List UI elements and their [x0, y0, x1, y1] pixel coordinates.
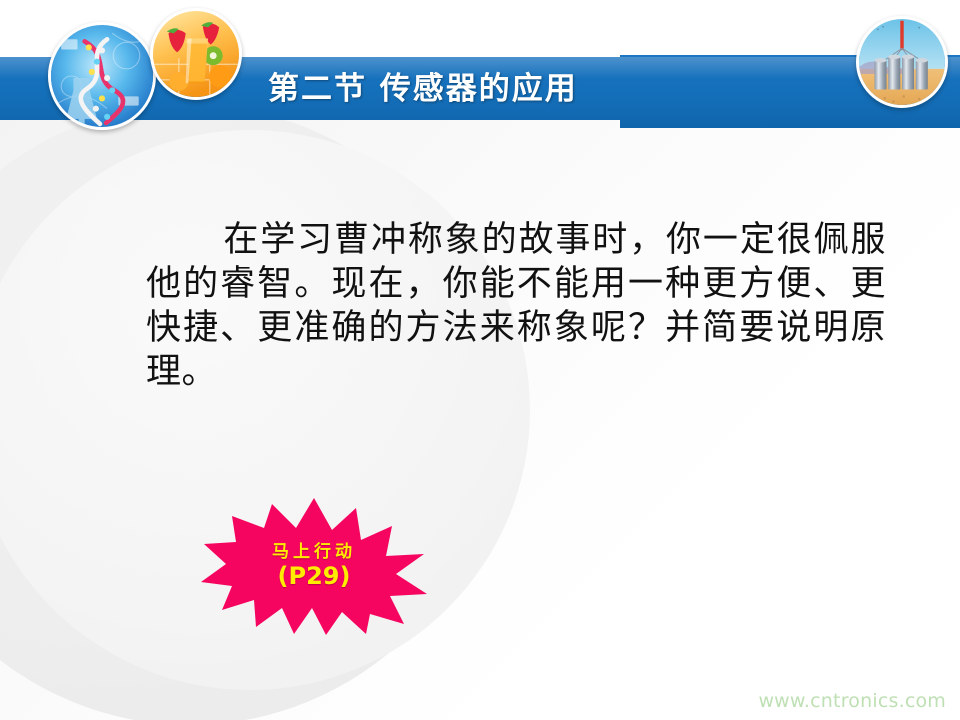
dna-icon: [51, 25, 153, 127]
callout-label: 马上行动: [198, 537, 430, 562]
callout-page-reference: (P29): [198, 562, 430, 590]
silo-photo-badge: [856, 16, 948, 108]
juice-icon: [153, 11, 239, 97]
page-title: 第二节 传感器的应用: [268, 64, 828, 114]
body-paragraph: 在学习曹冲称象的故事时，你一定很佩服他的睿智。现在，你能不能用一种更方便、更快捷…: [146, 218, 886, 394]
slide-canvas: 第二节 传感器的应用: [0, 0, 960, 720]
silo-icon: [859, 19, 945, 105]
juice-photo-badge: [150, 8, 242, 100]
dna-photo-badge: [48, 22, 156, 130]
paragraph-text: 在学习曹冲称象的故事时，你一定很佩服他的睿智。现在，你能不能用一种更方便、更快捷…: [146, 220, 886, 392]
callout-starburst[interactable]: 马上行动 (P29): [198, 496, 430, 636]
watermark-text: www.cntronics.com: [758, 690, 946, 712]
background-wash: [0, 118, 960, 720]
